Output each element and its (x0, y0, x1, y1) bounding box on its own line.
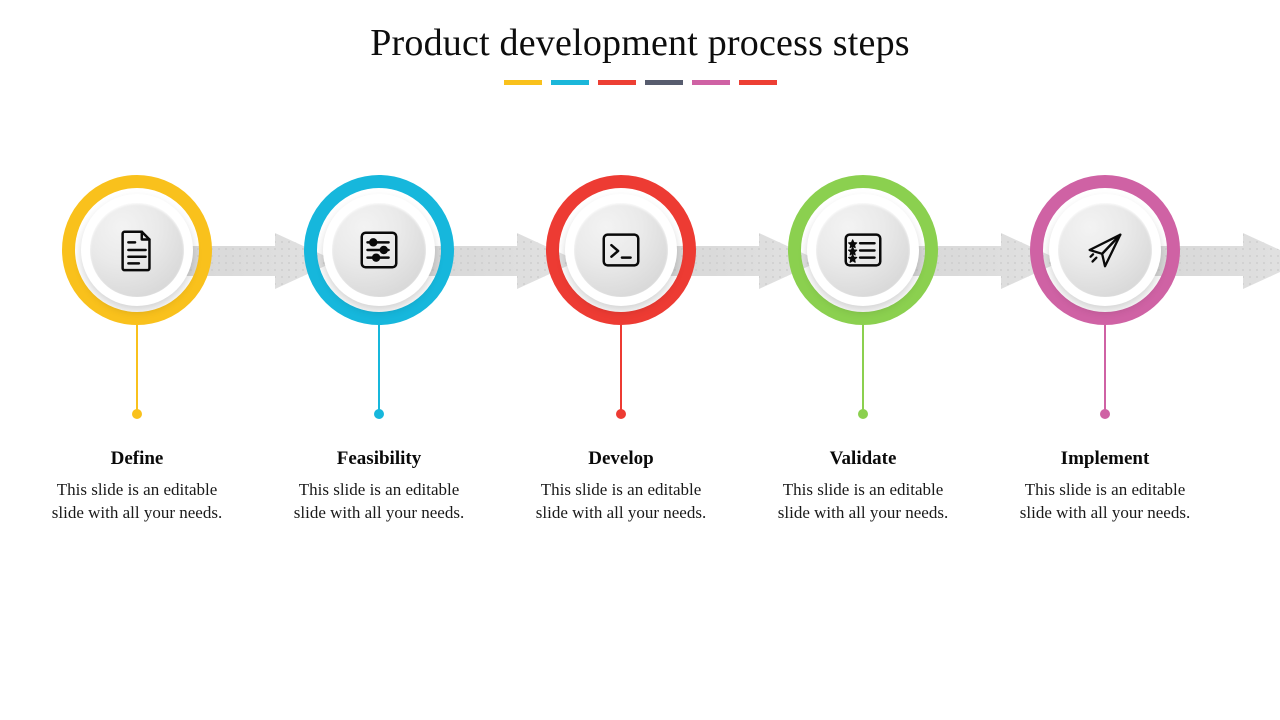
star-checklist-icon (840, 227, 886, 273)
connector-dot (374, 409, 384, 419)
paper-plane-icon (1082, 227, 1128, 273)
dash-cyan (551, 80, 589, 85)
slide-canvas: Product development process steps (0, 0, 1280, 720)
caption-title-implement: Implement (990, 448, 1220, 471)
dash-red (598, 80, 636, 85)
dash-yellow (504, 80, 542, 85)
step-node-feasibility[interactable] (304, 175, 474, 345)
accent-dash-row (0, 80, 1280, 85)
step-node-develop[interactable] (546, 175, 716, 345)
step-disc-inner-feasibility (332, 203, 426, 297)
step-disc-implement (1049, 194, 1161, 306)
dash-slate (645, 80, 683, 85)
caption-body-implement: This slide is an editable slide with all… (1007, 478, 1203, 525)
caption-body-develop: This slide is an editable slide with all… (523, 478, 719, 525)
connector-dot (132, 409, 142, 419)
connector-dot (616, 409, 626, 419)
caption-title-define: Define (22, 448, 252, 471)
dash-pink (692, 80, 730, 85)
process-steps-row (0, 175, 1280, 345)
step-disc-inner-develop (574, 203, 668, 297)
step-disc-define (81, 194, 193, 306)
caption-title-feasibility: Feasibility (264, 448, 494, 471)
document-icon (114, 227, 160, 273)
terminal-prompt-icon (598, 227, 644, 273)
step-disc-feasibility (323, 194, 435, 306)
step-node-implement[interactable] (1030, 175, 1200, 345)
caption-title-validate: Validate (748, 448, 978, 471)
caption-body-validate: This slide is an editable slide with all… (765, 478, 961, 525)
step-disc-inner-implement (1058, 203, 1152, 297)
caption-feasibility: Feasibility This slide is an editable sl… (264, 448, 494, 525)
caption-validate: Validate This slide is an editable slide… (748, 448, 978, 525)
connector-dot (1100, 409, 1110, 419)
step-disc-inner-validate (816, 203, 910, 297)
step-node-define[interactable] (62, 175, 232, 345)
page-title: Product development process steps (0, 22, 1280, 66)
caption-implement: Implement This slide is an editable slid… (990, 448, 1220, 525)
step-disc-inner-define (90, 203, 184, 297)
step-node-validate[interactable] (788, 175, 958, 345)
caption-define: Define This slide is an editable slide w… (22, 448, 252, 525)
settings-sliders-icon (356, 227, 402, 273)
step-disc-develop (565, 194, 677, 306)
dash-red-2 (739, 80, 777, 85)
caption-develop: Develop This slide is an editable slide … (506, 448, 736, 525)
step-disc-validate (807, 194, 919, 306)
caption-title-develop: Develop (506, 448, 736, 471)
caption-body-define: This slide is an editable slide with all… (39, 478, 235, 525)
connector-dot (858, 409, 868, 419)
title-block: Product development process steps (0, 22, 1280, 85)
caption-body-feasibility: This slide is an editable slide with all… (281, 478, 477, 525)
